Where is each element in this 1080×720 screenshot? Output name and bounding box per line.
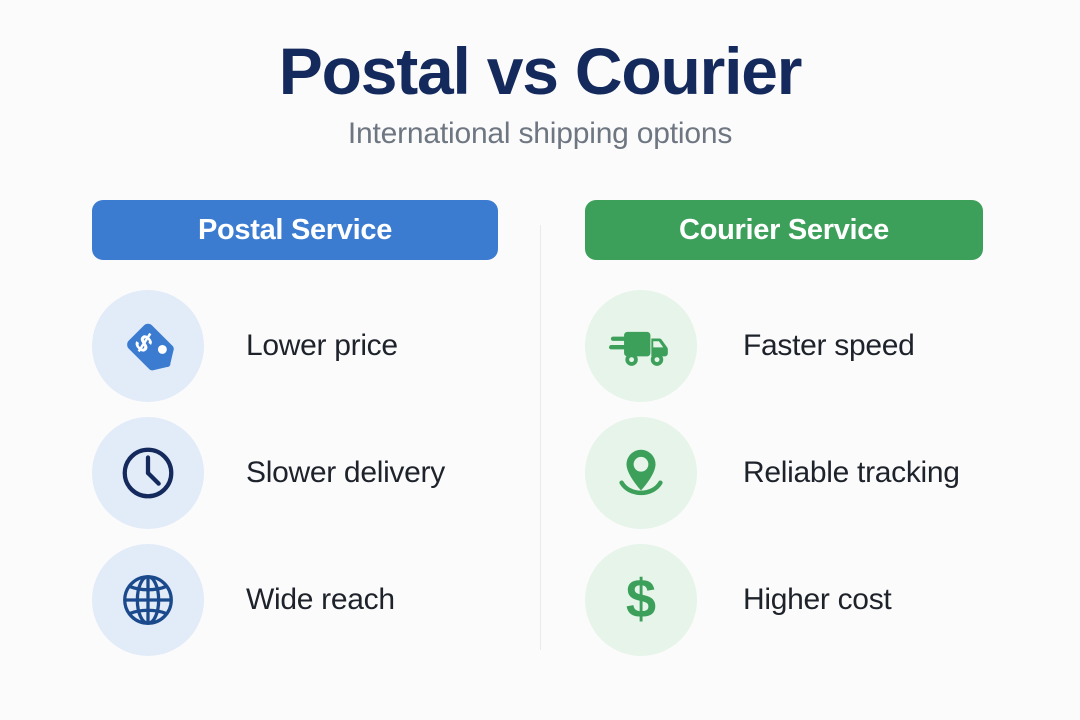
globe-icon xyxy=(92,544,204,656)
postal-feature-list: S Lower price Slower delivery xyxy=(92,282,498,663)
list-item: $ Higher cost xyxy=(585,536,983,663)
svg-text:$: $ xyxy=(626,569,656,629)
list-item: Wide reach xyxy=(92,536,498,663)
banner-postal-label: Postal Service xyxy=(198,214,392,247)
column-divider xyxy=(540,225,541,650)
fast-truck-icon xyxy=(585,290,697,402)
infographic-header: Postal vs Courier International shipping… xyxy=(0,0,1080,151)
list-item-label: Slower delivery xyxy=(246,456,445,490)
dollar-sign-icon: $ xyxy=(585,544,697,656)
page-title: Postal vs Courier xyxy=(0,0,1080,107)
banner-courier-service: Courier Service xyxy=(585,200,983,260)
list-item: Faster speed xyxy=(585,282,983,409)
list-item-label: Faster speed xyxy=(743,329,915,363)
list-item-label: Wide reach xyxy=(246,583,395,617)
courier-feature-list: Faster speed Reliable tracking $ xyxy=(585,282,983,663)
location-pin-tracking-icon xyxy=(585,417,697,529)
list-item-label: Lower price xyxy=(246,329,398,363)
banner-courier-label: Courier Service xyxy=(679,214,889,247)
list-item: Slower delivery xyxy=(92,409,498,536)
comparison-columns: Postal Service S Lower xyxy=(0,200,1080,670)
list-item: Reliable tracking xyxy=(585,409,983,536)
price-tag-icon: S xyxy=(92,290,204,402)
column-postal: Postal Service S Lower xyxy=(92,200,498,663)
page-subtitle: International shipping options xyxy=(0,107,1080,151)
column-courier: Courier Service xyxy=(585,200,983,663)
list-item: S Lower price xyxy=(92,282,498,409)
list-item-label: Higher cost xyxy=(743,583,891,617)
clock-icon xyxy=(92,417,204,529)
banner-postal-service: Postal Service xyxy=(92,200,498,260)
list-item-label: Reliable tracking xyxy=(743,456,960,490)
